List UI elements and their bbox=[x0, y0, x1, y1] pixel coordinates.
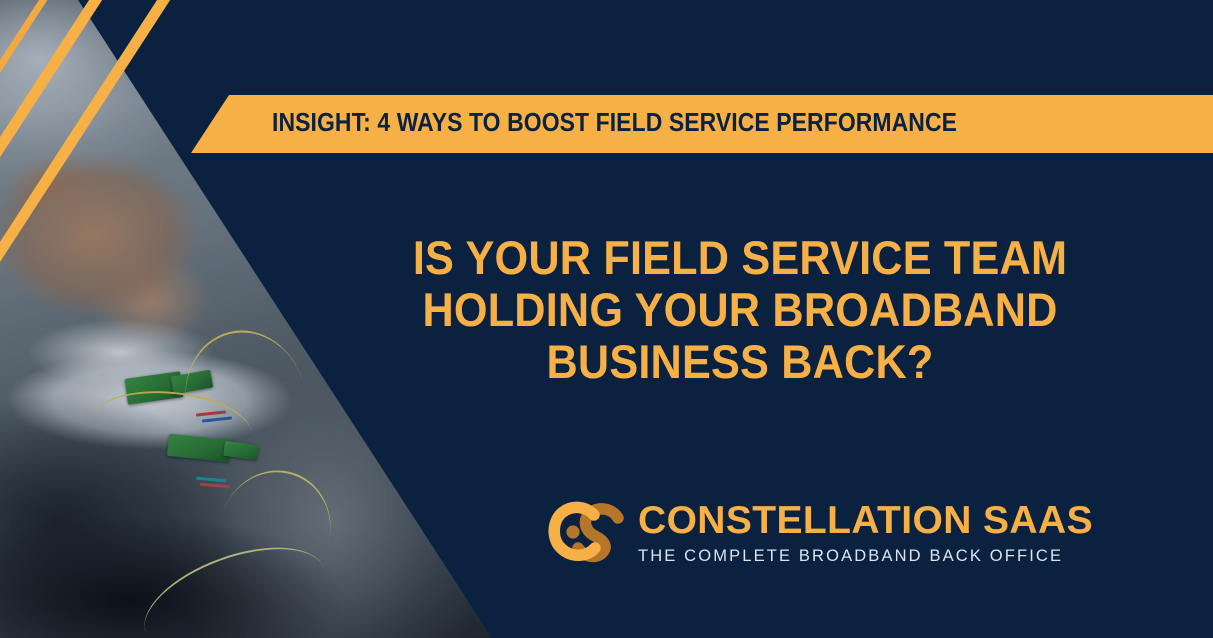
cs-monogram-icon bbox=[538, 497, 624, 569]
headline-line-2: HOLDING YOUR BROADBAND bbox=[335, 284, 1145, 336]
headline-line-1: IS YOUR FIELD SERVICE TEAM bbox=[335, 232, 1145, 284]
insight-bar-text: INSIGHT: 4 WAYS TO BOOST FIELD SERVICE P… bbox=[272, 111, 957, 137]
insight-banner: INSIGHT: 4 WAYS TO BOOST FIELD SERVICE P… bbox=[0, 0, 1213, 638]
logo-wordmark: CONSTELLATION SAAS bbox=[638, 501, 1093, 540]
insight-kicker: INSIGHT: bbox=[272, 109, 371, 137]
insight-subject: 4 WAYS TO BOOST FIELD SERVICE PERFORMANC… bbox=[371, 109, 957, 137]
page-title: IS YOUR FIELD SERVICE TEAM HOLDING YOUR … bbox=[300, 232, 1180, 388]
logo-lockup: CONSTELLATION SAAS THE COMPLETE BROADBAN… bbox=[538, 497, 1093, 569]
headline-line-3: BUSINESS BACK? bbox=[335, 336, 1145, 388]
logo-text-block: CONSTELLATION SAAS THE COMPLETE BROADBAN… bbox=[638, 501, 1093, 566]
logo-tagline: THE COMPLETE BROADBAND BACK OFFICE bbox=[638, 547, 1093, 566]
